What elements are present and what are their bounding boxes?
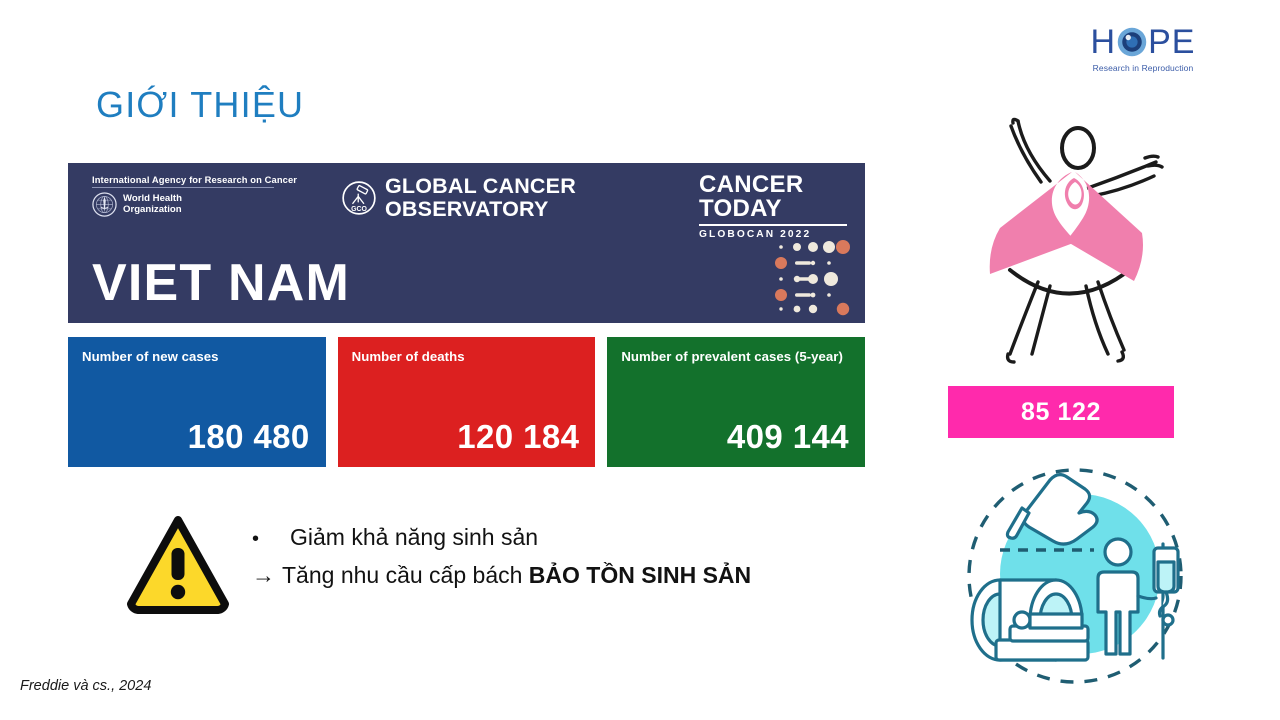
bullet-item-2: → Tăng nhu cầu cấp bách BẢO TỒN SINH SẢN <box>252 562 872 589</box>
stat-card-deaths: Number of deaths 120 184 <box>338 337 596 467</box>
hope-logo: H PE Research in Reproduction <box>1078 24 1208 82</box>
pink-value: 85 122 <box>1021 398 1101 427</box>
page-title: GIỚI THIỆU <box>96 84 304 126</box>
globocan-dot-pattern-icon <box>773 238 851 316</box>
country-name: VIET NAM <box>92 257 350 309</box>
gco-title-line-2: OBSERVATORY <box>385 197 548 221</box>
stat-card-prevalent-cases: Number of prevalent cases (5-year) 409 1… <box>607 337 865 467</box>
bullet-list: • Giảm khả năng sinh sản → Tăng nhu cầu … <box>252 524 872 589</box>
source-citation: Freddie và cs., 2024 <box>20 678 151 694</box>
stat-value: 180 480 <box>188 420 310 453</box>
bullet-text-2: Tăng nhu cầu cấp bách BẢO TỒN SINH SẢN <box>282 562 751 589</box>
cancer-today-line-1: CANCER <box>699 173 847 197</box>
iarc-label: International Agency for Research on Can… <box>92 174 302 185</box>
gco-observatory-block: GCO GLOBAL CANCER OBSERVATORY <box>342 175 576 221</box>
warning-triangle-icon <box>126 512 230 616</box>
bullet-marker-icon: • <box>252 528 290 551</box>
hope-letter-h: H <box>1091 25 1117 59</box>
gco-banner: International Agency for Research on Can… <box>68 163 865 323</box>
hope-eye-icon <box>1117 27 1147 57</box>
bullet-text-1: Giảm khả năng sinh sản <box>290 524 538 551</box>
cancer-today-line-2: TODAY <box>699 197 847 221</box>
hope-wordmark: H PE <box>1078 24 1208 60</box>
pink-ribbon-dancer-icon <box>962 96 1178 364</box>
stat-label: Number of prevalent cases (5-year) <box>621 349 851 365</box>
hope-letters-pe: PE <box>1148 25 1195 59</box>
pink-value-box: 85 122 <box>948 386 1174 438</box>
stat-boxes: Number of new cases 180 480 Number of de… <box>68 337 865 467</box>
gco-title-line-1: GLOBAL CANCER <box>385 174 576 198</box>
cancer-today-block: CANCER TODAY GLOBOCAN 2022 <box>699 173 847 240</box>
iarc-divider <box>92 187 274 188</box>
slide-canvas: H PE Research in Reproduction GIỚI THIỆU… <box>0 0 1280 720</box>
cancer-today-divider <box>699 224 847 226</box>
bullet-item-1: • Giảm khả năng sinh sản <box>252 524 872 551</box>
gco-mark-text: GCO <box>351 206 367 213</box>
stat-card-new-cases: Number of new cases 180 480 <box>68 337 326 467</box>
arrow-marker-icon: → <box>252 562 282 589</box>
telescope-icon: GCO <box>342 181 376 215</box>
cancer-treatment-icon <box>952 462 1198 690</box>
who-name: World Health Organization <box>123 194 182 215</box>
bullet-text-2-normal: Tăng nhu cầu cấp bách <box>282 562 529 588</box>
stat-value: 409 144 <box>727 420 849 453</box>
who-line-2: Organization <box>123 204 182 215</box>
gco-title: GLOBAL CANCER OBSERVATORY <box>385 175 576 221</box>
stat-label: Number of deaths <box>352 349 582 365</box>
bullet-text-2-emphasis: BẢO TỒN SINH SẢN <box>529 562 751 588</box>
who-line-1: World Health <box>123 193 182 204</box>
stat-label: Number of new cases <box>82 349 312 365</box>
iarc-who-block: International Agency for Research on Can… <box>92 174 302 217</box>
hope-tagline: Research in Reproduction <box>1078 63 1208 73</box>
who-emblem-icon <box>92 192 117 217</box>
stat-value: 120 184 <box>457 420 579 453</box>
